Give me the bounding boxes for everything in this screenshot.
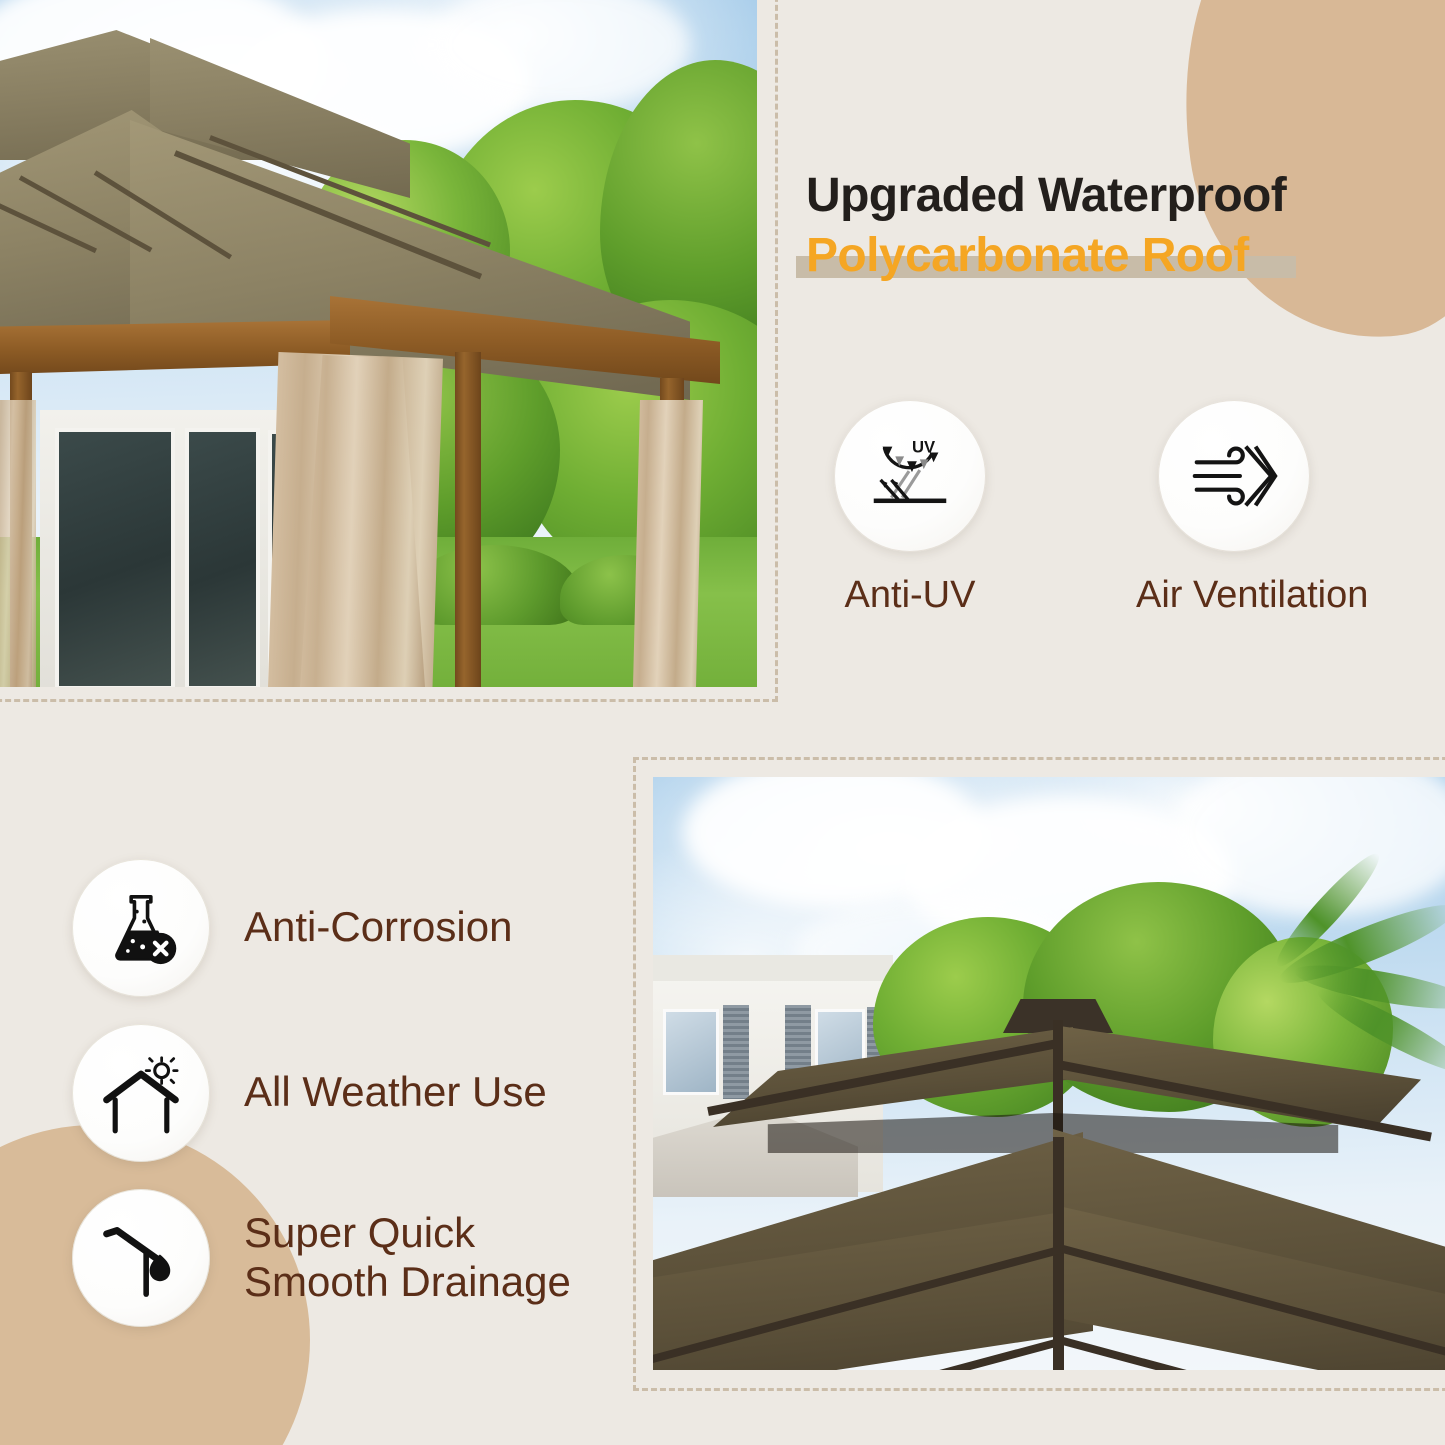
anti-uv-icon: UV xyxy=(861,427,959,525)
headline-block: Upgraded Waterproof Polycarbonate Roof xyxy=(806,170,1406,282)
curtain xyxy=(633,400,703,687)
headline-line-2-wrap: Polycarbonate Roof xyxy=(806,230,1249,282)
house-eave xyxy=(653,955,893,981)
infographic-page: Upgraded Waterproof Polycarbonate Roof U… xyxy=(0,0,1445,1445)
feature-air-ventilation: Air Ventilation xyxy=(1136,400,1332,617)
drainage-label-line-2: Smooth Drainage xyxy=(244,1258,571,1307)
gazebo-sun-icon xyxy=(98,1050,184,1136)
gazebo-post xyxy=(455,352,481,687)
gazebo-sun-icon-circle xyxy=(72,1024,210,1162)
feature-anti-uv: UV xyxy=(812,400,1008,617)
feature-label-anti-corrosion: Anti-Corrosion xyxy=(244,903,512,952)
flask-no-corrosion-icon xyxy=(100,887,182,969)
feature-label-anti-uv: Anti-UV xyxy=(812,574,1008,617)
glass-door xyxy=(185,428,260,687)
window-shutter xyxy=(723,1005,749,1099)
flask-no-corrosion-icon-circle xyxy=(72,859,210,997)
headline-line-2: Polycarbonate Roof xyxy=(806,230,1249,282)
feature-all-weather-use: All Weather Use xyxy=(72,1010,632,1175)
feature-label-super-quick-drainage: Super Quick Smooth Drainage xyxy=(244,1209,571,1306)
air-ventilation-icon-circle xyxy=(1158,400,1310,552)
bottom-feature-list: Anti-Corrosion xyxy=(72,845,632,1340)
house-window xyxy=(663,1009,719,1095)
roof-closeup-photo xyxy=(653,777,1445,1370)
feature-super-quick-drainage: Super Quick Smooth Drainage xyxy=(72,1175,632,1340)
drainage-label-line-1: Super Quick xyxy=(244,1209,475,1256)
gazebo-exterior-photo xyxy=(0,0,757,687)
drainage-droplet-icon-circle xyxy=(72,1189,210,1327)
feature-anti-corrosion: Anti-Corrosion xyxy=(72,845,632,1010)
drainage-droplet-icon xyxy=(98,1215,184,1301)
glass-door xyxy=(55,428,175,687)
top-feature-group: UV xyxy=(812,400,1332,617)
feature-label-all-weather-use: All Weather Use xyxy=(244,1068,547,1117)
air-ventilation-icon xyxy=(1185,427,1283,525)
anti-uv-icon-circle: UV xyxy=(834,400,986,552)
feature-label-air-ventilation: Air Ventilation xyxy=(1136,574,1332,617)
curtain xyxy=(0,400,36,687)
headline-line-1: Upgraded Waterproof xyxy=(806,170,1406,222)
